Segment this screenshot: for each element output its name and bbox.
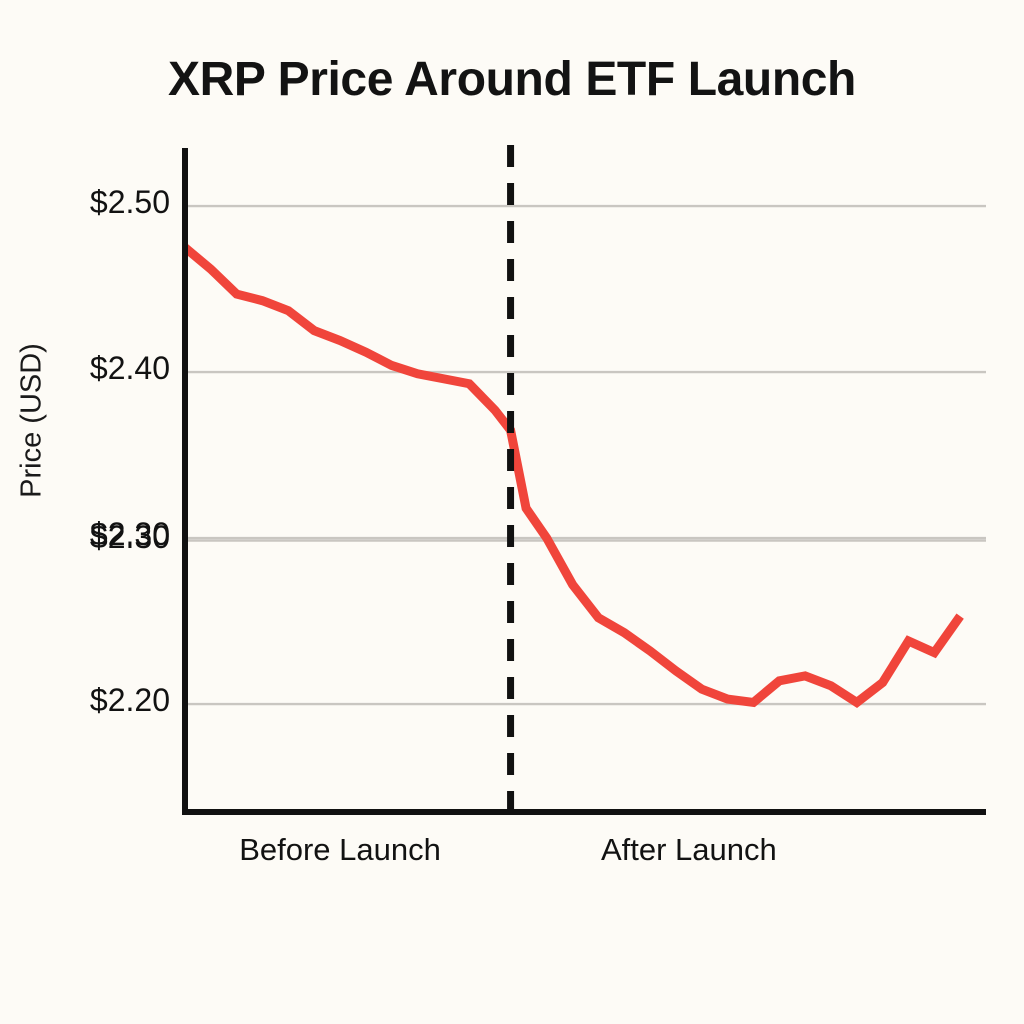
plot-area — [0, 0, 1024, 1024]
axis-spines — [182, 148, 986, 814]
chart-container: XRP Price Around ETF Launch Price (USD) … — [0, 0, 1024, 1024]
price-line — [185, 248, 960, 703]
gridlines — [185, 206, 986, 704]
price-line-series — [185, 248, 960, 703]
